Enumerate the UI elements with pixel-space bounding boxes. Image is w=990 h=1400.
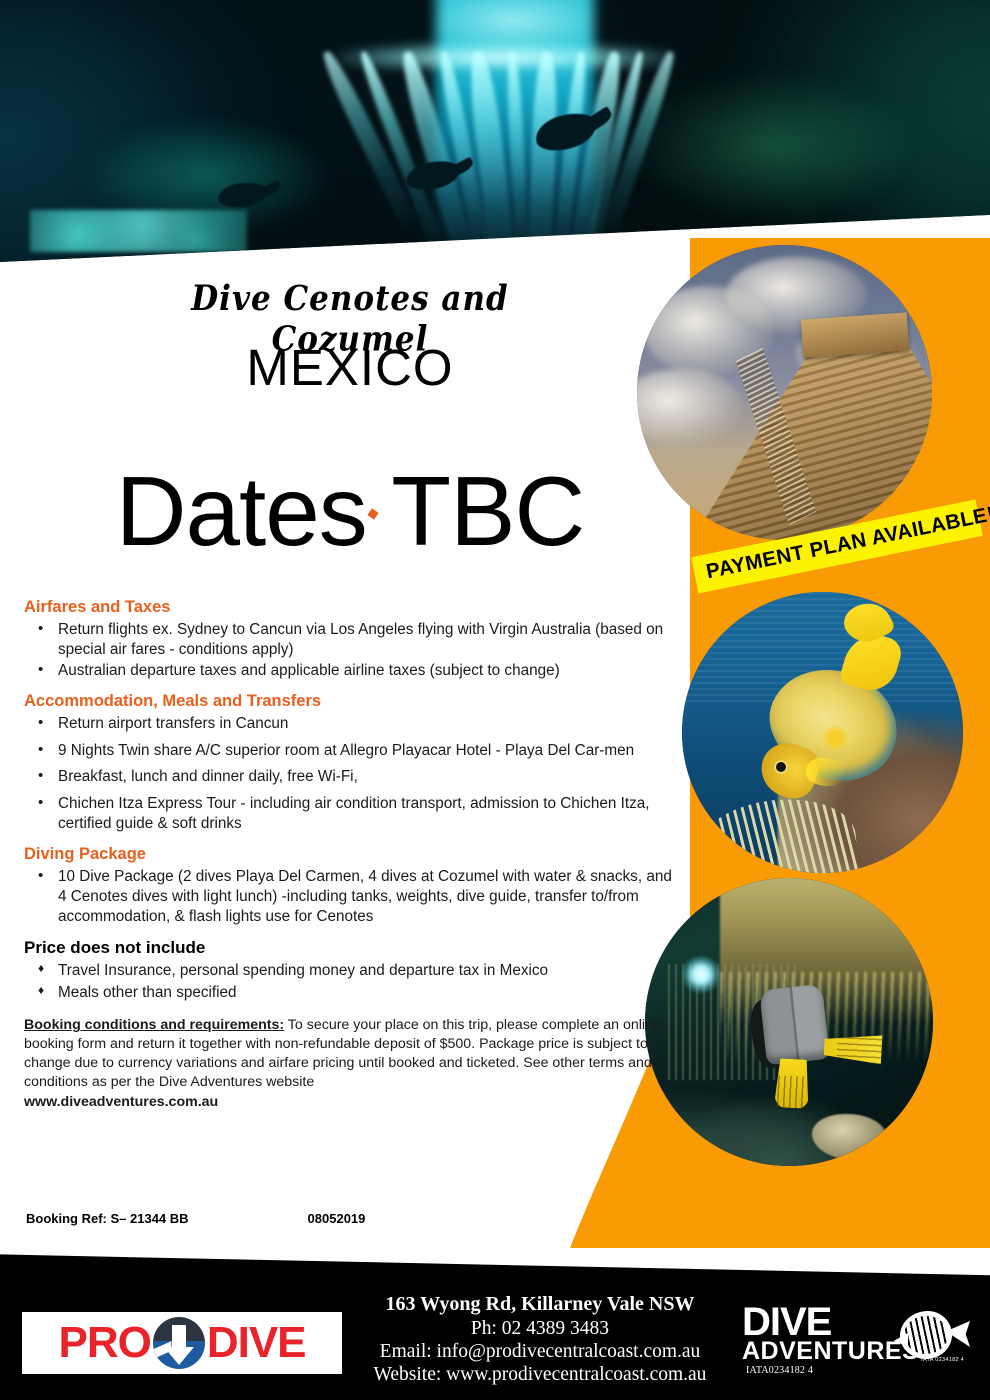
section-heading-exclusions: Price does not include [24, 938, 676, 958]
hero-cenote-image [0, 0, 990, 262]
footer-website[interactable]: Website: www.prodivecentralcoast.com.au [330, 1363, 750, 1386]
list-item: Meals other than specified [24, 983, 676, 1003]
prodive-globe-arrow-icon [153, 1317, 205, 1369]
country-title: MEXICO [140, 338, 560, 397]
prodive-word-dive: DIVE [207, 1318, 306, 1368]
prodive-wordmark: PRO DIVE [58, 1317, 305, 1369]
dates-title: Dates TBC [60, 455, 640, 568]
cave-diver-cenote-photo [645, 878, 933, 1166]
list-item: Return flights ex. Sydney to Cancun via … [24, 620, 676, 660]
list-item: Breakfast, lunch and dinner daily, free … [24, 767, 676, 787]
flyer-page: Dive Cenotes and Cozumel MEXICO Dates TB… [0, 0, 990, 1400]
footer-phone: Ph: 02 4389 3483 [330, 1317, 750, 1340]
footer-contact-block: 163 Wyong Rd, Killarney Vale NSW Ph: 02 … [330, 1293, 750, 1386]
list-item: Australian departure taxes and applicabl… [24, 661, 676, 681]
dive-adventures-website-link[interactable]: www.diveadventures.com.au [24, 1093, 676, 1112]
queen-angelfish-reef-photo [682, 592, 963, 873]
booking-conditions-block: Booking conditions and requirements: To … [24, 1016, 676, 1111]
chichen-itza-pyramid-photo [637, 245, 932, 540]
list-item: Return airport transfers in Cancun [24, 714, 676, 734]
pyramid-temple-top [801, 312, 910, 358]
booking-conditions-label: Booking conditions and requirements: [24, 1017, 284, 1033]
footer-address: 163 Wyong Rd, Killarney Vale NSW [330, 1293, 750, 1317]
dive-adventures-iata: IATA0234182 4 [742, 1365, 972, 1376]
list-item: 9 Nights Twin share A/C superior room at… [24, 741, 676, 761]
section-list-airfares: Return flights ex. Sydney to Cancun via … [24, 620, 676, 681]
angelfish-logo-icon: IATA 0234182 4 [894, 1307, 970, 1365]
dive-torch-light [682, 956, 719, 993]
booking-reference-number: 08052019 [308, 1211, 366, 1226]
list-item: 10 Dive Package (2 dives Playa Del Carme… [24, 867, 676, 927]
angelfish-spot [823, 724, 848, 752]
dive-adventures-logo: IATA 0234182 4 DIVE ADVENTURES IATA02341… [742, 1303, 972, 1376]
section-list-accommodation: Return airport transfers in Cancun 9 Nig… [24, 714, 676, 834]
iata-badge-text: IATA 0234182 4 [921, 1357, 964, 1363]
section-heading-accommodation: Accommodation, Meals and Transfers [24, 692, 676, 711]
list-item: Travel Insurance, personal spending mone… [24, 961, 676, 981]
cave-diver-tanks [759, 984, 830, 1065]
inclusions-content: Airfares and Taxes Return flights ex. Sy… [24, 598, 676, 1112]
footer-email[interactable]: Email: info@prodivecentralcoast.com.au [330, 1340, 750, 1363]
prodive-word-pro: PRO [58, 1318, 150, 1368]
section-heading-airfares: Airfares and Taxes [24, 598, 676, 617]
prodive-logo: PRO DIVE [22, 1312, 342, 1374]
section-heading-diving: Diving Package [24, 845, 676, 864]
section-list-exclusions: Travel Insurance, personal spending mone… [24, 961, 676, 1003]
hero-bubbles [30, 210, 248, 252]
booking-reference-label: Booking Ref: S– 21344 BB [26, 1211, 189, 1226]
booking-reference-row: Booking Ref: S– 21344 BB 08052019 [26, 1211, 646, 1226]
section-list-diving: 10 Dive Package (2 dives Playa Del Carme… [24, 867, 676, 927]
list-item: Chichen Itza Express Tour - including ai… [24, 794, 676, 834]
